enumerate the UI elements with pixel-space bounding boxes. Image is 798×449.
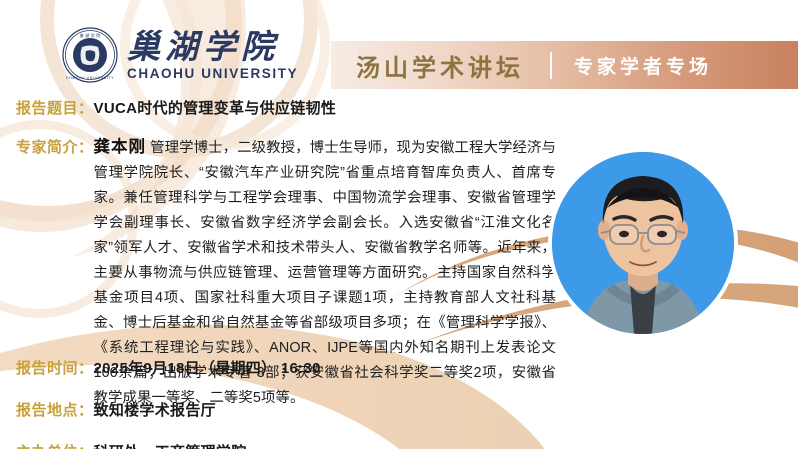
report-venue-label: 报告地点：	[16, 398, 94, 423]
banner-subtitle: 专家学者专场	[574, 52, 712, 79]
report-title-value: VUCA时代的管理变革与供应链韧性	[94, 96, 337, 121]
university-name-cn: 巢湖学院	[127, 30, 298, 63]
report-title-label: 报告题目：	[16, 96, 94, 121]
report-venue-value: 致知楼学术报告厅	[94, 398, 216, 423]
university-name-en: CHAOHU UNIVERSITY	[127, 67, 298, 81]
banner-divider	[550, 52, 552, 79]
svg-text:巢 湖 学 院: 巢 湖 学 院	[80, 32, 102, 39]
report-venue-row: 报告地点： 致知楼学术报告厅	[16, 398, 536, 423]
svg-text:CHAOHU UNIVERSITY: CHAOHU UNIVERSITY	[66, 76, 114, 80]
report-time-value: 2025年9月18日（星期四） 16:30	[94, 356, 321, 381]
expert-name: 龚本刚	[94, 138, 147, 156]
poster-footer: 报告时间： 2025年9月18日（星期四） 16:30 报告地点： 致知楼学术报…	[16, 356, 536, 449]
university-seal-icon: 巢 湖 学 院 CHAOHU UNIVERSITY	[62, 27, 118, 83]
report-time-label: 报告时间：	[16, 356, 94, 381]
report-time-row: 报告时间： 2025年9月18日（星期四） 16:30	[16, 356, 536, 381]
report-host-label: 主办单位：	[16, 440, 94, 449]
forum-banner: 汤山学术讲坛 专家学者专场	[331, 41, 798, 89]
university-logo: 巢 湖 学 院 CHAOHU UNIVERSITY 巢湖学院 CHAOHU UN…	[62, 27, 298, 83]
report-host-row: 主办单位： 科研处、工商管理学院	[16, 440, 536, 449]
expert-bio-label: 专家简介：	[16, 135, 94, 160]
speaker-portrait	[552, 152, 734, 334]
lecture-poster: 巢 湖 学 院 CHAOHU UNIVERSITY 巢湖学院 CHAOHU UN…	[0, 0, 798, 449]
report-title-row: 报告题目： VUCA时代的管理变革与供应链韧性	[16, 96, 556, 121]
banner-title: 汤山学术讲坛	[356, 48, 524, 83]
report-host-value: 科研处、工商管理学院	[94, 440, 247, 449]
